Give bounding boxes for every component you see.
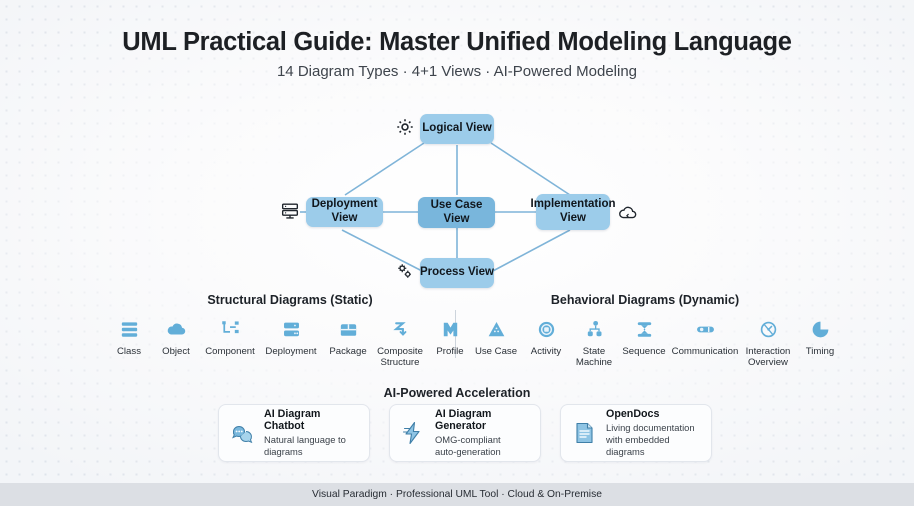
view-node-implementation-label: Implementation View — [531, 198, 616, 225]
ai-cards-row: AI Diagram Chatbot Natural language to d… — [218, 404, 712, 462]
footer-bar: Visual Paradigm · Professional UML Tool … — [0, 483, 914, 506]
four-plus-one-views-diagram: Logical View Deployment View Use Case Vi… — [0, 100, 914, 295]
timing-pie-icon — [809, 316, 832, 342]
diagram-item-profile[interactable]: Profile — [426, 316, 474, 368]
cloud-icon — [617, 202, 639, 224]
diagram-item-component-label: Component — [205, 347, 255, 358]
activity-circle-icon — [535, 316, 558, 342]
diagram-item-package-label: Package — [329, 347, 366, 358]
ai-card-generator-title: AI Diagram Generator — [435, 408, 531, 432]
behavioral-icon-row: Use Case Activity State M — [470, 316, 844, 368]
page-title: UML Practical Guide: Master Unified Mode… — [0, 28, 914, 57]
state-machine-icon — [583, 316, 606, 342]
view-node-logical-label: Logical View — [422, 122, 491, 136]
usecase-triangle-icon — [485, 316, 508, 342]
structural-heading: Structural Diagrams (Static) — [130, 293, 450, 307]
diagram-item-deployment-label: Deployment — [265, 347, 316, 358]
communication-pill-icon — [694, 316, 717, 342]
ai-card-chatbot-title: AI Diagram Chatbot — [264, 408, 360, 432]
server-icon — [279, 200, 301, 222]
ai-card-opendocs[interactable]: OpenDocs Living documentation with embed… — [560, 404, 712, 462]
diagram-item-package[interactable]: Package — [322, 316, 374, 368]
diagram-item-state-machine-label: State Machine — [576, 347, 612, 368]
edge-logical-implementation — [491, 143, 570, 195]
view-node-usecase-label: Use Case View — [418, 199, 495, 226]
page-subtitle: 14 Diagram Types · 4+1 Views · AI-Powere… — [0, 63, 914, 80]
ai-card-chatbot[interactable]: AI Diagram Chatbot Natural language to d… — [218, 404, 370, 462]
composite-arrow-icon — [389, 316, 412, 342]
diagram-item-activity[interactable]: Activity — [522, 316, 570, 368]
diagram-item-timing[interactable]: Timing — [796, 316, 844, 368]
ai-card-opendocs-desc: Living documentation with embedded diagr… — [606, 422, 702, 457]
interaction-overview-icon — [757, 316, 780, 342]
diagram-item-interaction-overview-label: Interaction Overview — [746, 347, 791, 368]
diagram-item-state-machine[interactable]: State Machine — [570, 316, 618, 368]
ai-card-generator[interactable]: AI Diagram Generator OMG-compliant auto-… — [389, 404, 541, 462]
component-icon — [219, 316, 242, 342]
gears-icon — [394, 260, 416, 282]
diagram-item-deployment[interactable]: Deployment — [260, 316, 322, 368]
server-rack-icon — [280, 316, 303, 342]
document-icon — [570, 419, 598, 447]
gear-icon — [394, 116, 416, 138]
footer-text: Visual Paradigm · Professional UML Tool … — [312, 489, 602, 500]
diagram-item-composite-structure[interactable]: Composite Structure — [374, 316, 426, 368]
diagram-item-class-label: Class — [117, 347, 141, 358]
view-node-process-label: Process View — [420, 266, 494, 280]
view-node-logical[interactable]: Logical View — [420, 114, 494, 144]
diagram-item-communication-label: Communication — [672, 347, 739, 358]
diagram-item-sequence[interactable]: Sequence — [618, 316, 670, 368]
ai-card-generator-desc: OMG-compliant auto-generation — [435, 434, 531, 458]
diagram-item-activity-label: Activity — [531, 347, 561, 358]
ai-card-opendocs-title: OpenDocs — [606, 408, 702, 420]
view-node-process[interactable]: Process View — [420, 258, 494, 288]
diagram-item-profile-label: Profile — [436, 347, 463, 358]
ai-section-heading: AI-Powered Acceleration — [0, 386, 914, 400]
diagram-item-communication[interactable]: Communication — [670, 316, 740, 368]
diagram-item-object[interactable]: Object — [152, 316, 200, 368]
profile-m-icon — [439, 316, 462, 342]
view-node-implementation[interactable]: Implementation View — [536, 194, 610, 230]
package-folder-icon — [337, 316, 360, 342]
diagram-item-use-case[interactable]: Use Case — [470, 316, 522, 368]
diagram-item-object-label: Object — [162, 347, 190, 358]
structural-icon-row: Class Object Component — [106, 316, 474, 368]
diagram-item-composite-structure-label: Composite Structure — [377, 347, 423, 368]
lightning-bolt-icon — [399, 419, 427, 447]
diagram-item-class[interactable]: Class — [106, 316, 152, 368]
poster-stage: UML Practical Guide: Master Unified Mode… — [0, 0, 914, 506]
cloud-object-icon — [165, 316, 188, 342]
class-stack-icon — [118, 316, 141, 342]
view-node-usecase[interactable]: Use Case View — [418, 197, 495, 228]
diagram-item-sequence-label: Sequence — [622, 347, 665, 358]
behavioral-heading: Behavioral Diagrams (Dynamic) — [470, 293, 820, 307]
sequence-hourglass-icon — [633, 316, 656, 342]
diagram-item-component[interactable]: Component — [200, 316, 260, 368]
diagram-item-use-case-label: Use Case — [475, 347, 517, 358]
diagram-item-timing-label: Timing — [806, 347, 834, 358]
view-node-deployment-label: Deployment View — [306, 198, 383, 225]
chat-bubbles-icon — [228, 419, 256, 447]
ai-card-chatbot-desc: Natural language to diagrams — [264, 434, 360, 458]
edge-logical-deployment — [345, 143, 424, 195]
diagram-item-interaction-overview[interactable]: Interaction Overview — [740, 316, 796, 368]
view-node-deployment[interactable]: Deployment View — [306, 197, 383, 227]
edge-process-implementation — [491, 230, 570, 272]
